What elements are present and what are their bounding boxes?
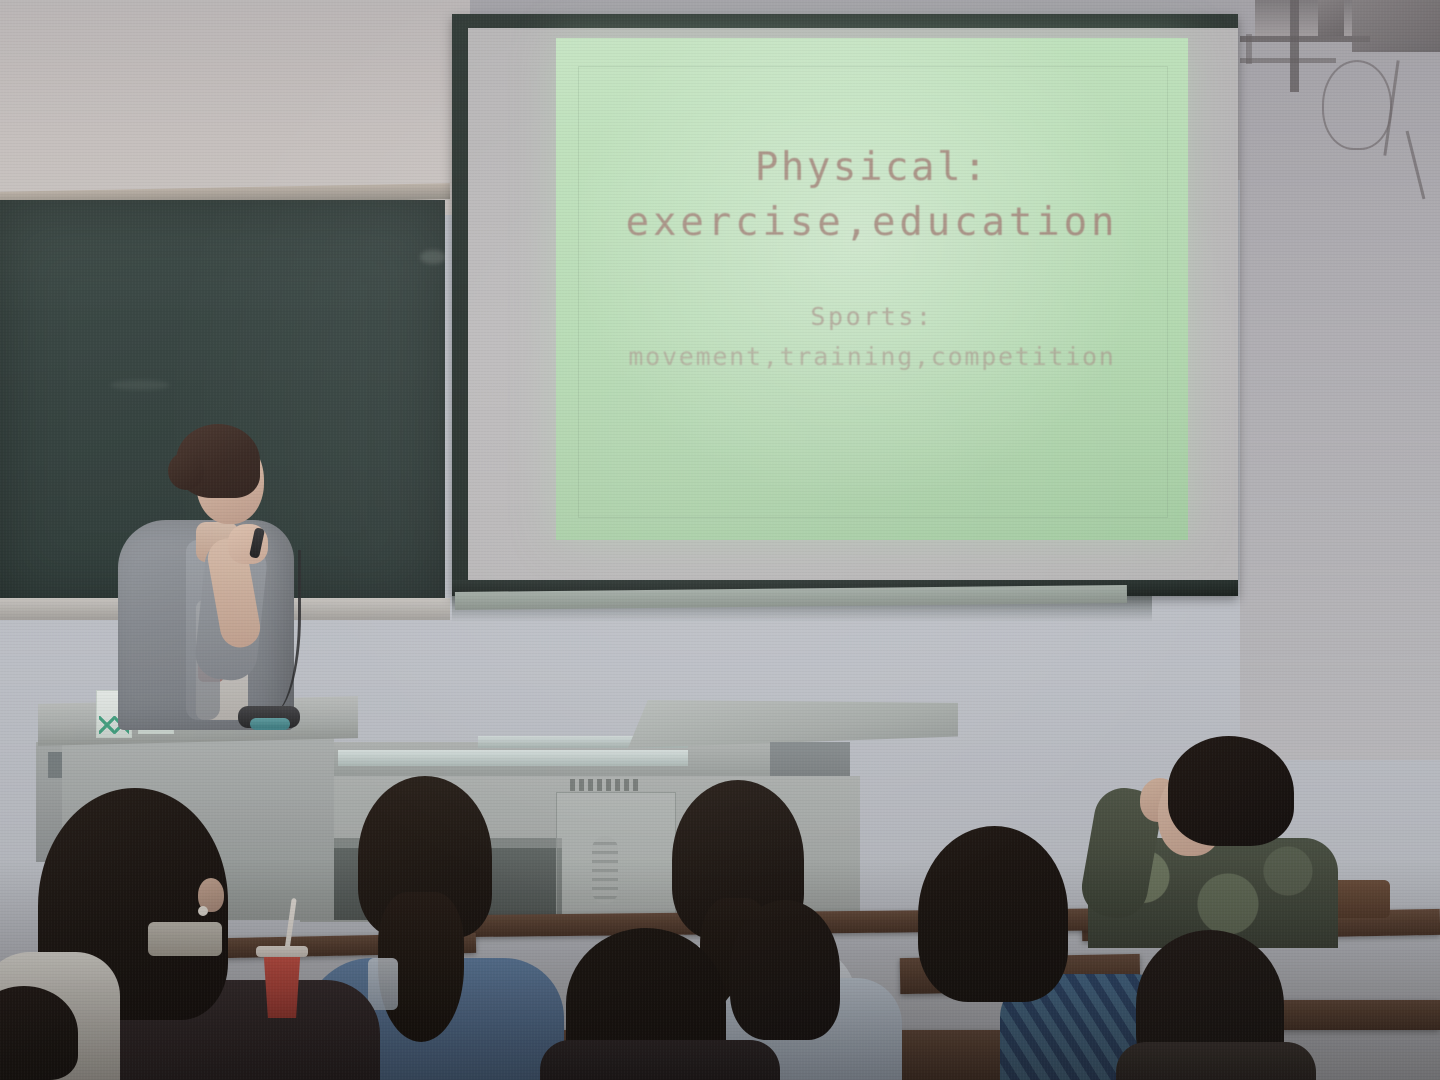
student-ponytail-blue-hair: [730, 900, 840, 1040]
chalk-smudge: [420, 250, 446, 264]
slide-body-sports: movement,training,competition: [556, 344, 1188, 370]
cable-loop-icon: [1322, 60, 1392, 150]
classroom-photo: Physical: exercise,education Sports: mov…: [0, 0, 1440, 1080]
student-denim-collar: [368, 958, 398, 1010]
left-upper-wall: [0, 0, 470, 215]
student-front-center-top: [540, 1040, 780, 1080]
student-camouflage-hair: [1168, 736, 1294, 846]
ceiling-vent-box: [1352, 0, 1440, 52]
duct-bar-vertical: [1290, 0, 1299, 92]
cabinet-vent-grill: [592, 836, 618, 904]
slide-heading-physical: Physical:: [556, 148, 1188, 189]
student-patterned-hair: [918, 826, 1068, 1002]
chalk-smudge: [110, 380, 170, 390]
slide-heading-sports: Sports:: [556, 304, 1188, 330]
student-front-left-earring-icon: [198, 906, 208, 916]
slide-text-block: Physical: exercise,education Sports: mov…: [556, 38, 1188, 540]
slide-body-physical: exercise,education: [556, 203, 1188, 244]
wall-bracket: [1246, 34, 1252, 64]
duct-bar-horizontal: [1240, 36, 1370, 42]
cabinet-label-plate: [570, 779, 642, 791]
teacher-hair-bun: [168, 452, 204, 490]
ceiling-vent-box-2: [1318, 0, 1344, 36]
student-back-right-jacket: [1116, 1042, 1316, 1080]
microphone-base-accent: [250, 718, 290, 730]
desk-light-strip: [338, 750, 688, 766]
wall-conduit: [1240, 58, 1336, 63]
student-front-left-collar: [148, 922, 222, 956]
drink-cup-lid: [256, 946, 308, 957]
